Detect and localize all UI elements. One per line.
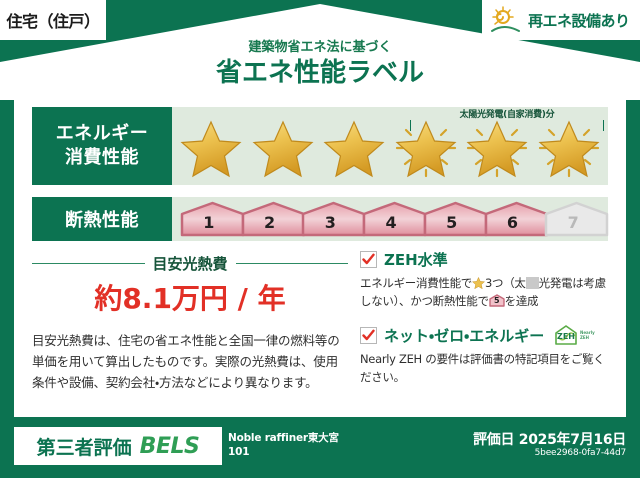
inline-insulation-chip-icon: 5 bbox=[489, 294, 505, 307]
insulation-level-chip: 1 bbox=[180, 201, 238, 237]
insulation-level-number: 3 bbox=[325, 215, 336, 237]
house-type-label: 住宅（住戸） bbox=[6, 8, 99, 32]
insulation-performance-label: 断熱性能 bbox=[32, 197, 172, 241]
zeh-standard-title: ZEH水準 bbox=[384, 249, 448, 270]
evaluation-id: 5bee2968-0fa7-44d7 bbox=[535, 448, 626, 458]
star-item-solar bbox=[393, 116, 459, 178]
zeh-standard-body: エネルギー消費性能で3つ（太光発電は考慮しない）、かつ断熱性能で5を達成 bbox=[360, 274, 608, 310]
star-item bbox=[178, 116, 244, 178]
redacted-character bbox=[526, 277, 539, 289]
house-type-badge: 住宅（住戸） bbox=[0, 0, 106, 40]
net-zero-head: ネット・ゼロ・エネルギー ZEH Nearly ZEH bbox=[360, 324, 608, 346]
building-unit: 101 bbox=[228, 445, 339, 459]
insulation-level-chip: 5 bbox=[423, 201, 481, 237]
insulation-level-number: 1 bbox=[203, 215, 214, 237]
zeh-body-pre: エネルギー消費性能で bbox=[360, 276, 472, 290]
star-item bbox=[250, 116, 316, 178]
bels-jp-label: 第三者評価 bbox=[37, 433, 132, 460]
cost-heading-text: 目安光熱費 bbox=[153, 253, 228, 274]
bels-en-label: BELS bbox=[140, 434, 200, 459]
checkbox-checked-icon bbox=[360, 327, 377, 344]
building-name: Noble raffiner東大宮 bbox=[228, 431, 339, 445]
svg-text:ZEH: ZEH bbox=[557, 332, 575, 341]
rule-right bbox=[236, 263, 349, 264]
zeh-standard-head: ZEH水準 bbox=[360, 249, 608, 270]
insulation-level-scale: 1 2 3 4 5 bbox=[178, 200, 602, 238]
insulation-performance-row: 断熱性能 1 2 3 bbox=[32, 197, 608, 241]
insulation-level-number: 7 bbox=[568, 215, 579, 237]
bels-badge: 第三者評価 BELS bbox=[14, 427, 222, 465]
insulation-level-number: 6 bbox=[507, 215, 518, 237]
energy-label-line2: 消費性能 bbox=[65, 146, 139, 170]
checkbox-checked-icon bbox=[360, 251, 377, 268]
evaluation-date: 評価日 2025年7月16日 bbox=[473, 429, 626, 449]
title-main: 省エネ性能ラベル bbox=[0, 57, 640, 89]
inline-chip-number: 5 bbox=[489, 294, 505, 307]
title-subtitle: 建築物省エネ法に基づく bbox=[0, 40, 640, 56]
energy-label-root: 建築物省エネ法に基づく 省エネ性能ラベル 住宅（住戸） 再エネ設備 bbox=[0, 0, 640, 478]
insulation-performance-value: 1 2 3 4 5 bbox=[172, 197, 608, 241]
zeh-logo-icon: ZEH Nearly ZEH bbox=[553, 324, 595, 346]
cost-amount: 約8.1万円 / 年 bbox=[32, 282, 348, 316]
zeh-body-mid: 3つ（太 bbox=[485, 276, 526, 290]
net-zero-title: ネット・ゼロ・エネルギー bbox=[384, 325, 544, 346]
svg-text:ZEH: ZEH bbox=[580, 335, 589, 340]
insulation-level-chip: 4 bbox=[362, 201, 420, 237]
energy-performance-row: エネルギー 消費性能 太陽光発電(自家消費)分 bbox=[32, 107, 608, 185]
footer: 第三者評価 BELS Noble raffiner東大宮 101 評価日 202… bbox=[0, 417, 640, 478]
cost-note: 目安光熱費は、住宅の省エネ性能と全国一律の燃料等の単価を用いて算出したものです。… bbox=[32, 330, 348, 393]
star-rating bbox=[178, 115, 602, 179]
renewable-badge: 再エネ設備あり bbox=[482, 0, 640, 40]
building-identity: Noble raffiner東大宮 101 bbox=[228, 431, 339, 459]
label-card: エネルギー 消費性能 太陽光発電(自家消費)分 bbox=[14, 97, 626, 417]
insulation-level-chip: 3 bbox=[301, 201, 359, 237]
title-block: 建築物省エネ法に基づく 省エネ性能ラベル bbox=[0, 40, 640, 89]
insulation-label-text: 断熱性能 bbox=[65, 206, 139, 232]
energy-label-line1: エネルギー bbox=[56, 122, 149, 146]
checks-column: ZEH水準 エネルギー消費性能で3つ（太光発電は考慮しない）、かつ断熱性能で5を… bbox=[360, 249, 608, 407]
cost-heading: 目安光熱費 bbox=[32, 253, 348, 274]
star-item bbox=[321, 116, 387, 178]
zeh-body-post: を達成 bbox=[505, 294, 539, 308]
insulation-level-number: 5 bbox=[446, 215, 457, 237]
star-item-solar bbox=[536, 116, 602, 178]
energy-performance-value: 太陽光発電(自家消費)分 bbox=[172, 107, 608, 185]
insulation-level-number: 4 bbox=[385, 215, 396, 237]
rule-left bbox=[32, 263, 145, 264]
insulation-level-number: 2 bbox=[264, 215, 275, 237]
evaluation-date-value: 2025年7月16日 bbox=[519, 432, 626, 448]
cost-column: 目安光熱費 約8.1万円 / 年 目安光熱費は、住宅の省エネ性能と全国一律の燃料… bbox=[32, 249, 348, 407]
zeh-standard-block: ZEH水準 エネルギー消費性能で3つ（太光発電は考慮しない）、かつ断熱性能で5を… bbox=[360, 249, 608, 310]
star-item-solar bbox=[464, 116, 530, 178]
net-zero-energy-block: ネット・ゼロ・エネルギー ZEH Nearly ZEH Nearly ZEH の… bbox=[360, 324, 608, 386]
sun-icon bbox=[490, 5, 524, 35]
renewable-label: 再エネ設備あり bbox=[528, 10, 630, 31]
energy-performance-label: エネルギー 消費性能 bbox=[32, 107, 172, 185]
inline-star-icon bbox=[472, 276, 485, 289]
evaluation-date-label: 評価日 bbox=[473, 432, 514, 448]
net-zero-body: Nearly ZEH の要件は評価書の特記項目をご覧ください。 bbox=[360, 350, 608, 386]
insulation-level-chip-inactive: 7 bbox=[544, 201, 602, 237]
insulation-level-chip: 2 bbox=[241, 201, 299, 237]
insulation-level-chip: 6 bbox=[484, 201, 542, 237]
